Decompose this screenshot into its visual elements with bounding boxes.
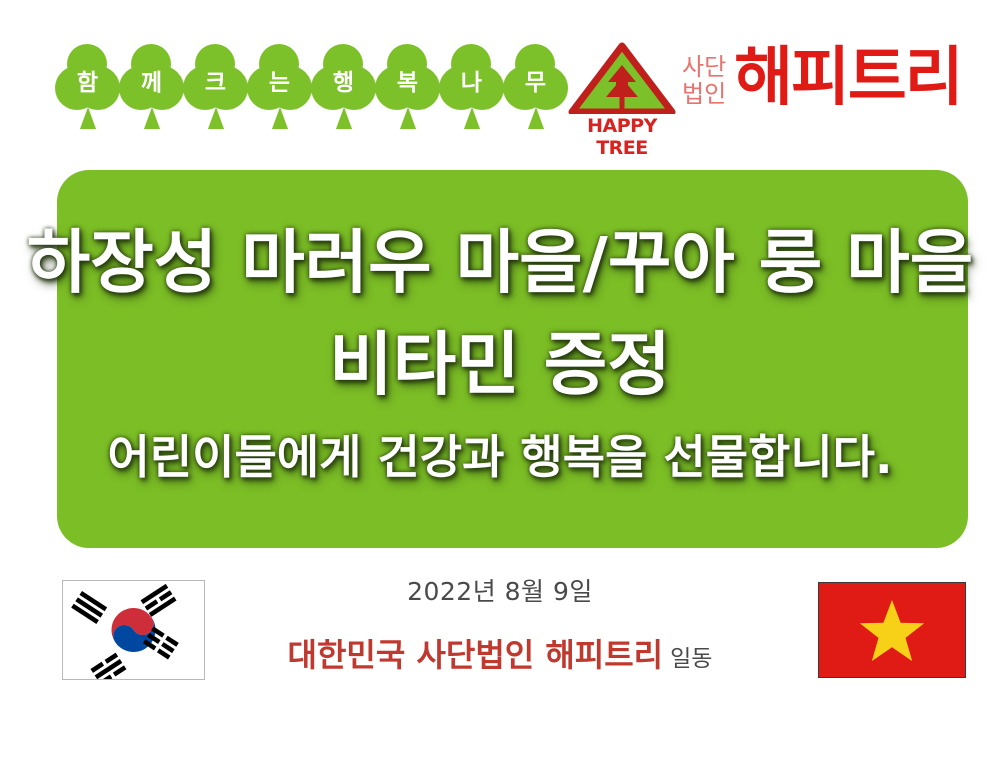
corporate-prefix-line1: 사단 bbox=[682, 54, 726, 81]
vietnam-flag-icon bbox=[818, 582, 966, 678]
slogan-tree-label: 나 bbox=[439, 72, 504, 95]
slogan-tree-label: 는 bbox=[247, 72, 312, 95]
slogan-tree-1: 함 bbox=[55, 44, 120, 144]
slogan-tree-8: 무 bbox=[503, 44, 568, 144]
tree-trunk-icon bbox=[272, 107, 288, 129]
tree-trunk-icon bbox=[144, 107, 160, 129]
slogan-tree-label: 크 bbox=[183, 72, 248, 95]
slogan-tree-7: 나 bbox=[439, 44, 504, 144]
corporate-prefix-line2: 법인 bbox=[682, 81, 726, 108]
organization-line: 대한민국 사단법인 해피트리일동 bbox=[230, 630, 770, 676]
slogan-tree-label: 께 bbox=[119, 72, 184, 95]
south-korea-flag-icon bbox=[62, 580, 205, 680]
slogan-tree-5: 행 bbox=[311, 44, 376, 144]
happy-tree-logo: HAPPY TREE bbox=[566, 42, 678, 142]
slogan-tree-label: 함 bbox=[55, 72, 120, 95]
banner-text-stack: 하장성 마러우 마을/꾸아 룽 마을 비타민 증정 어린이들에게 건강과 행복을… bbox=[0, 170, 1000, 548]
slogan-tree-3: 크 bbox=[183, 44, 248, 144]
header-logo-row: 함 께 크 bbox=[0, 0, 1000, 160]
slogan-tree-label: 행 bbox=[311, 72, 376, 95]
corporate-name: 해피트리 bbox=[734, 46, 962, 110]
tree-trunk-icon bbox=[80, 107, 96, 129]
banner-subline: 어린이들에게 건강과 행복을 선물합니다. bbox=[108, 428, 893, 488]
taegukgi-svg bbox=[63, 581, 204, 679]
banner-headline-line1: 하장성 마러우 마을/꾸아 룽 마을 bbox=[27, 212, 974, 314]
slogan-tree-label: 복 bbox=[375, 72, 440, 95]
organization-suffix: 일동 bbox=[670, 646, 712, 672]
yellow-star-icon bbox=[856, 596, 928, 664]
slogan-tree-2: 께 bbox=[119, 44, 184, 144]
slogan-tree-label: 무 bbox=[503, 72, 568, 95]
banner-headline-line2: 비타민 증정 bbox=[329, 314, 670, 416]
announcement-banner: 하장성 마러우 마을/꾸아 룽 마을 비타민 증정 어린이들에게 건강과 행복을… bbox=[57, 170, 968, 548]
corporate-name-block: 사단 법인 해피트리 bbox=[682, 46, 962, 110]
triangle-tree-icon bbox=[566, 42, 678, 114]
slogan-tree-4: 는 bbox=[247, 44, 312, 144]
organization-name: 대한민국 사단법인 해피트리 bbox=[288, 636, 664, 674]
tree-trunk-icon bbox=[336, 107, 352, 129]
tree-trunk-icon bbox=[208, 107, 224, 129]
corporate-prefix: 사단 법인 bbox=[682, 48, 726, 108]
tree-trunk-icon bbox=[400, 107, 416, 129]
tree-trunk-icon bbox=[464, 107, 480, 129]
event-date: 2022년 8월 9일 bbox=[230, 572, 770, 608]
footer-center-text: 2022년 8월 9일 대한민국 사단법인 해피트리일동 bbox=[230, 572, 770, 676]
slogan-tree-row: 함 께 크 bbox=[55, 44, 567, 144]
tree-trunk-icon bbox=[528, 107, 544, 129]
footer-area: 2022년 8월 9일 대한민국 사단법인 해피트리일동 bbox=[0, 560, 1000, 720]
happy-tree-wordmark: HAPPY TREE bbox=[566, 115, 678, 159]
slogan-tree-6: 복 bbox=[375, 44, 440, 144]
